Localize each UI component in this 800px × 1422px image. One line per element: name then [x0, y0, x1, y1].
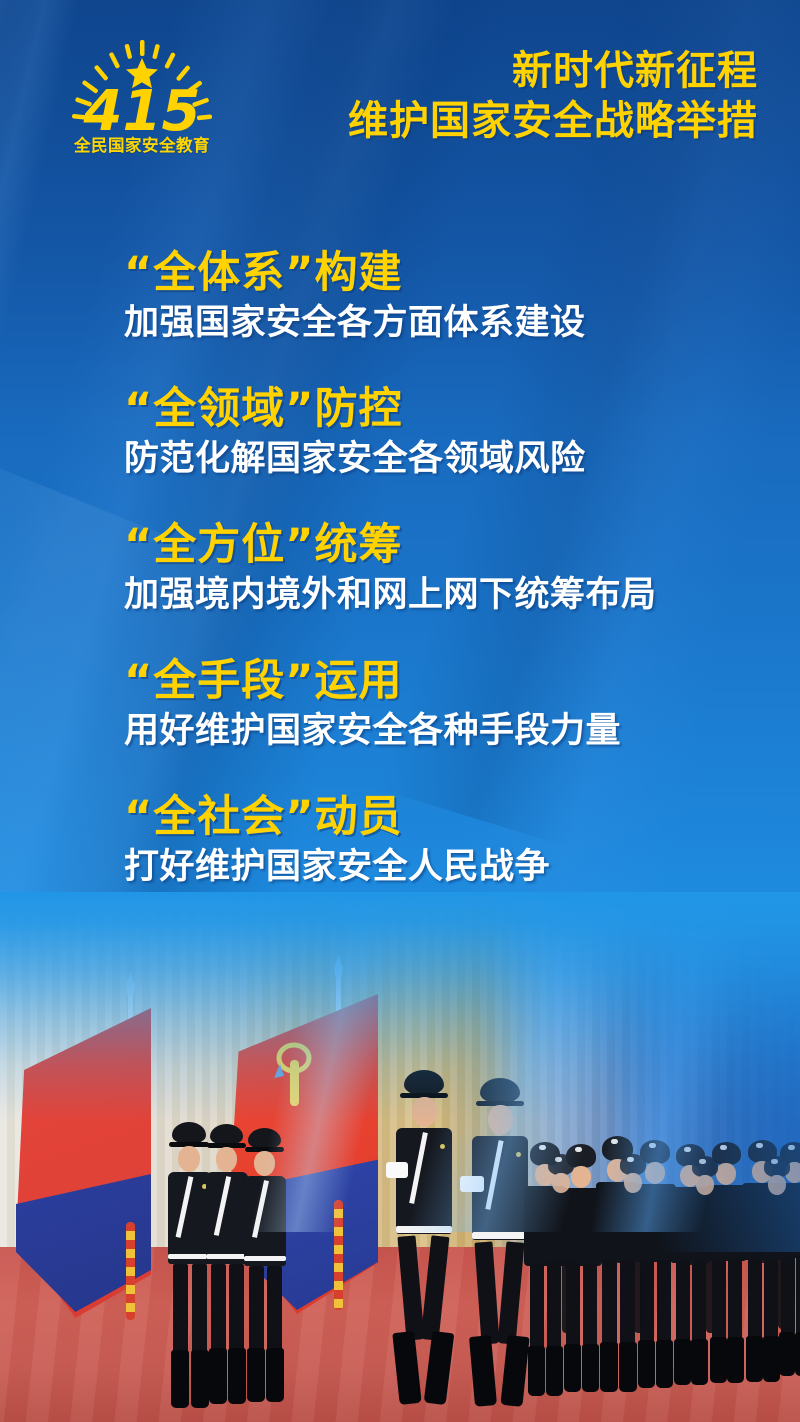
list-item: “全方位”统筹 加强境内境外和网上网下统筹布局 — [124, 518, 784, 618]
soldier-leg — [421, 1235, 450, 1340]
national-security-education-logo: 415 全民国家安全教育 — [62, 38, 222, 158]
title-line-2: 维护国家安全战略举措 — [348, 96, 758, 146]
soldier-boot — [247, 1348, 265, 1402]
photo-content — [0, 892, 800, 1422]
item-title: “全方位”统筹 — [124, 518, 784, 572]
list-item: “全体系”构建 加强国家安全各方面体系建设 — [124, 246, 784, 346]
soldier-leg — [474, 1241, 499, 1344]
list-item: “全社会”动员 打好维护国家安全人民战争 — [124, 790, 784, 890]
item-description: 防范化解国家安全各领域风险 — [124, 436, 784, 482]
soldier-boot — [424, 1331, 455, 1405]
soldier-belt — [244, 1256, 286, 1261]
soldier-leg — [706, 1263, 718, 1333]
soldier-leg — [249, 1266, 264, 1354]
soldier-leg — [211, 1264, 226, 1354]
logo-subtitle: 全民国家安全教育 — [62, 132, 222, 156]
item-title: “全手段”运用 — [124, 654, 784, 708]
title-line-1: 新时代新征程 — [348, 46, 758, 96]
poster-title: 新时代新征程 维护国家安全战略举措 — [348, 46, 758, 146]
item-title: “全社会”动员 — [124, 790, 784, 844]
item-title: “全体系”构建 — [124, 246, 784, 300]
list-item: “全手段”运用 用好维护国家安全各种手段力量 — [124, 654, 784, 754]
soldier-leg — [764, 1261, 776, 1329]
soldier-leg — [267, 1266, 282, 1354]
soldier-leg — [562, 1261, 574, 1333]
soldier-leg — [173, 1264, 188, 1356]
item-title: “全领域”防控 — [124, 382, 784, 436]
item-description: 打好维护国家安全人民战争 — [124, 844, 784, 890]
soldier-boot — [469, 1335, 497, 1407]
list-item: “全领域”防控 防范化解国家安全各领域风险 — [124, 382, 784, 482]
honor-guard-photo — [0, 892, 800, 1422]
poster-canvas: 415 全民国家安全教育 新时代新征程 维护国家安全战略举措 “全体系”构建 加… — [0, 0, 800, 1422]
soldier-leg — [634, 1261, 646, 1333]
soldier-boot — [266, 1348, 284, 1402]
soldier-leg — [398, 1235, 425, 1340]
item-description: 加强国家安全各方面体系建设 — [124, 300, 784, 346]
soldier-leg — [620, 1261, 632, 1333]
photo-top-fade — [0, 892, 800, 1122]
soldier-leg — [692, 1263, 704, 1333]
soldier-boot — [392, 1331, 421, 1405]
soldier-boot — [209, 1348, 227, 1404]
soldier-boot — [171, 1350, 189, 1408]
soldier-leg — [778, 1261, 790, 1329]
poster-header: 415 全民国家安全教育 新时代新征程 维护国家安全战略举措 — [0, 0, 800, 175]
soldier-leg — [548, 1261, 560, 1333]
item-description: 用好维护国家安全各种手段力量 — [124, 708, 784, 754]
item-description: 加强境内境外和网上网下统筹布局 — [124, 572, 784, 618]
measures-list: “全体系”构建 加强国家安全各方面体系建设 “全领域”防控 防范化解国家安全各领… — [124, 246, 784, 926]
flag-rod — [126, 1222, 135, 1320]
